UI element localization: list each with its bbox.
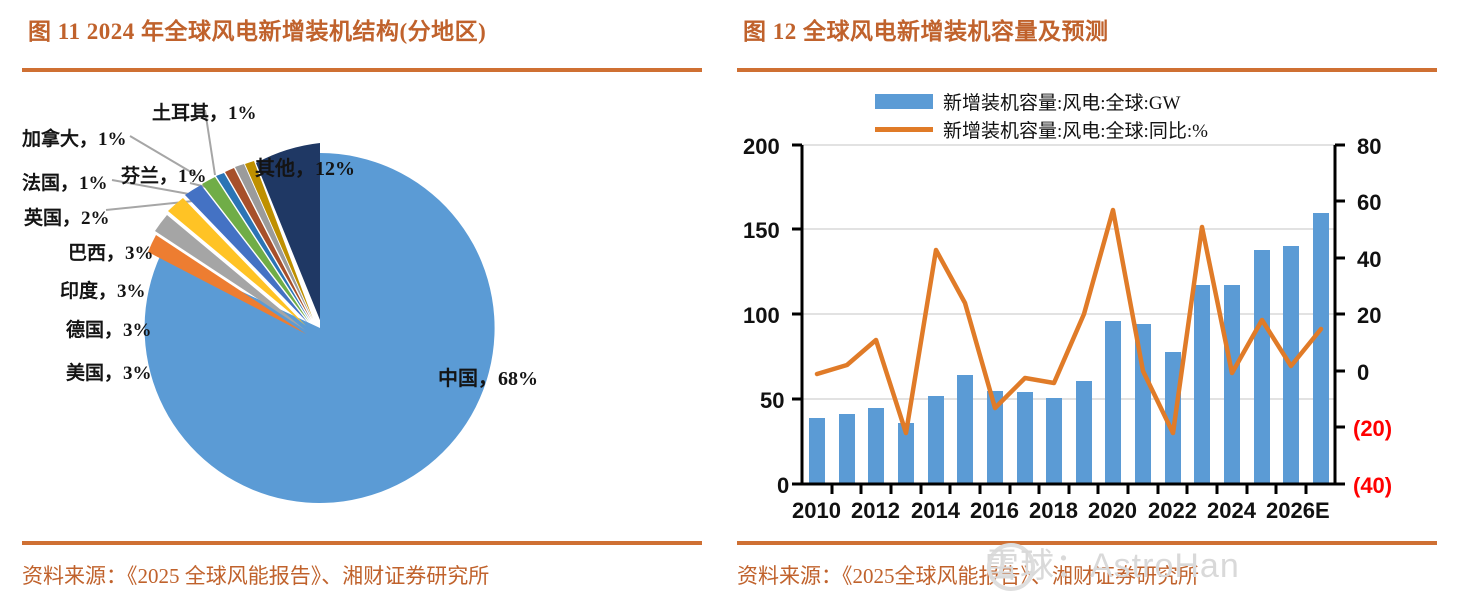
xtick-2016: 2016 [970,498,1019,524]
pie-label-india: 印度，3% [60,276,146,303]
bar-2024 [1224,285,1240,484]
figure-11-top-rule [22,68,702,72]
bar-2020 [1105,321,1121,484]
xtick-2024: 2024 [1207,498,1256,524]
bar-2025E [1254,250,1270,484]
watermark-logo-icon [987,543,1035,591]
chart-legend: 新增装机容量:风电:全球:GW 新增装机容量:风电:全球:同比:% [875,88,1208,144]
xtick-2020: 2020 [1088,498,1137,524]
figure-12-bottom-rule [737,541,1437,545]
legend-item-line[interactable]: 新增装机容量:风电:全球:同比:% [875,116,1208,142]
bar-2027E [1313,213,1329,484]
xtick-2018: 2018 [1029,498,1078,524]
pie-label-brazil: 巴西，3% [68,238,154,265]
ytick-right-40: 40 [1357,247,1381,273]
pie-label-china: 中国，68% [438,362,538,391]
legend-label-line: 新增装机容量:风电:全球:同比:% [943,116,1208,143]
pie-slices [145,143,495,503]
legend-bar-swatch-icon [875,94,933,109]
pie-label-finland: 芬兰，1% [121,161,207,188]
figure-11-bottom-rule [22,541,702,545]
ytick-right-80: 80 [1357,134,1381,160]
bar-2010 [809,418,825,484]
xtick-2014: 2014 [911,498,960,524]
legend-line-swatch-icon [875,127,933,132]
legend-item-bar[interactable]: 新增装机容量:风电:全球:GW [875,88,1208,114]
figure-11-source: 资料来源：《2025 全球风能报告》、湘财证券研究所 [22,560,489,590]
pie-label-usa: 美国，3% [66,358,152,385]
pie-label-uk: 英国，2% [24,203,110,230]
figure-11-panel: 图 11 2024 年全球风电新增装机结构(分地区) [0,0,735,610]
ytick-right-neg20: (20) [1353,416,1392,442]
ytick-right-60: 60 [1357,190,1381,216]
legend-label-bar: 新增装机容量:风电:全球:GW [943,88,1181,115]
bar-2018 [1046,398,1062,484]
figure-12-panel: 图 12 全球风电新增装机容量及预测 新增装机容量:风电:全球:GW 新增装机容… [735,0,1470,610]
figure-11-title: 图 11 2024 年全球风电新增装机结构(分地区) [28,12,486,46]
bar-2015 [957,375,973,484]
ytick-left-150: 150 [743,218,780,244]
ytick-left-200: 200 [743,134,780,160]
figure-12-top-rule [737,68,1437,72]
ytick-left-0: 0 [777,473,789,499]
pie-label-other: 其他，12% [255,152,355,181]
xtick-2022: 2022 [1148,498,1197,524]
pie-chart: 土耳其，1% 加拿大，1% 芬兰，1% 法国，1% 英国，2% 巴西，3% 印度… [0,80,735,535]
bar-2019 [1076,381,1092,484]
ytick-right-20: 20 [1357,303,1381,329]
figure-12-title: 图 12 全球风电新增装机容量及预测 [743,12,1109,46]
pie-label-france: 法国，1% [22,168,108,195]
ytick-right-neg40: (40) [1353,473,1392,499]
xtick-2012: 2012 [851,498,900,524]
pie-label-germany: 德国，3% [66,315,152,342]
bar-2011 [839,414,855,484]
pie-label-turkey: 土耳其，1% [152,98,257,125]
bar-2014 [928,396,944,484]
xtick-2026E: 2026E [1266,498,1330,524]
ytick-right-0: 0 [1357,360,1369,386]
combo-chart: 新增装机容量:风电:全球:GW 新增装机容量:风电:全球:同比:% [735,80,1470,535]
bar-2017 [1017,392,1033,484]
ytick-left-50: 50 [760,388,784,414]
bar-2012 [868,408,884,484]
figure-12-source: 资料来源：《2025全球风能报告》、湘财证券研究所 [737,560,1199,590]
pie-label-canada: 加拿大，1% [22,124,127,151]
ytick-left-100: 100 [743,303,780,329]
bar-2023 [1194,285,1210,484]
xtick-2010: 2010 [792,498,841,524]
